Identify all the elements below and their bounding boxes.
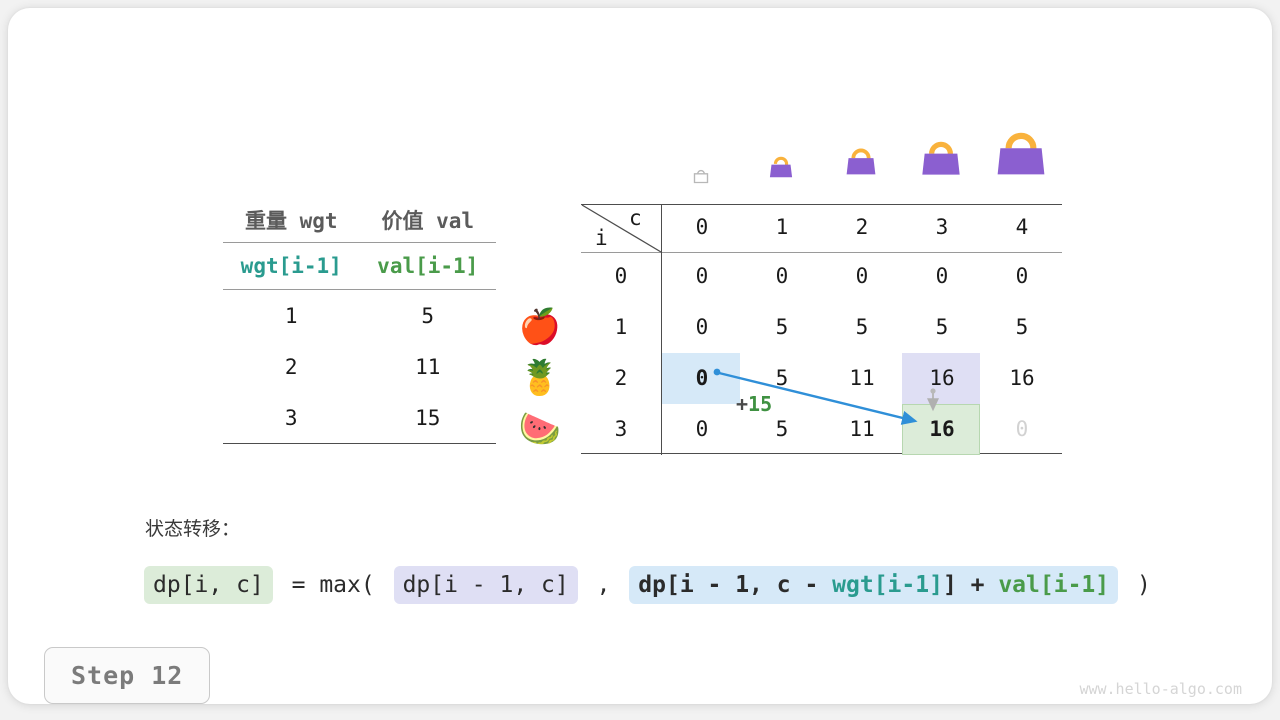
dp-row-header-1: 1	[581, 302, 661, 353]
formula-comma: ,	[578, 572, 630, 598]
dp-cell-1-4: 5	[982, 302, 1062, 353]
watermelon-icon: 🍉	[516, 405, 564, 453]
dp-cell-3-2: 11	[822, 404, 902, 455]
table-row: 3 15	[223, 392, 496, 444]
bag-capacity-4-icon	[988, 118, 1054, 188]
item-1-value: 11	[360, 341, 497, 392]
formula-lhs: dp[i, c]	[144, 566, 273, 604]
items-table-subheader-row: wgt[i-1] val[i-1]	[223, 243, 496, 290]
state-transition-formula: dp[i, c] = max( dp[i - 1, c] , dp[i - 1,…	[144, 566, 1156, 604]
bag-capacity-0-icon	[673, 163, 729, 193]
plus-value: 15	[748, 392, 772, 416]
dp-cell-3-0: 0	[662, 404, 742, 455]
dp-cell-0-0: 0	[662, 251, 742, 302]
plus-gain-annotation: +15	[736, 392, 772, 416]
dp-cell-2-2: 11	[822, 353, 902, 404]
dp-col-header-4: 4	[982, 202, 1062, 253]
item-2-weight: 3	[223, 392, 360, 444]
formula-eq: = max(	[273, 572, 394, 598]
dp-cell-2-3: 16	[902, 353, 982, 404]
dp-axis-label-c: c	[629, 206, 642, 230]
formula-arg2-val: val[i-1]	[998, 572, 1109, 598]
formula-arg2-prefix: dp[i - 1, c -	[638, 572, 832, 598]
dp-col-header-2: 2	[822, 202, 902, 253]
formula-arg2-wgt: wgt[i-1]	[832, 572, 943, 598]
dp-cell-0-3: 0	[902, 251, 982, 302]
dp-header-diagonal-icon	[581, 204, 662, 253]
pineapple-icon: 🍍	[516, 354, 564, 402]
dp-row-header-2: 2	[581, 353, 661, 404]
items-subheader-val: val[i-1]	[360, 243, 497, 290]
state-transition-label: 状态转移：	[145, 514, 240, 541]
formula-arg2-mid: ] +	[943, 572, 998, 598]
items-header-wgt: 重量 wgt	[223, 198, 360, 243]
watermark: www.hello-algo.com	[1079, 680, 1242, 698]
dp-cell-0-4: 0	[982, 251, 1062, 302]
formula-close: )	[1118, 572, 1156, 598]
items-subheader-wgt: wgt[i-1]	[223, 243, 360, 290]
bag-capacity-1-icon	[753, 148, 809, 190]
dp-cell-3-4: 0	[982, 404, 1062, 455]
plus-sign: +	[736, 392, 748, 416]
formula-arg1: dp[i - 1, c]	[394, 566, 578, 604]
dp-cell-1-1: 5	[742, 302, 822, 353]
items-header-val: 价值 val	[360, 198, 497, 243]
item-1-weight: 2	[223, 341, 360, 392]
dp-axis-label-i: i	[595, 226, 608, 250]
dp-table: c i 0 1 2 3 4 0 1 2 3 0 0 0 0 0 0 5	[581, 204, 1062, 455]
item-0-weight: 1	[223, 290, 360, 342]
table-row: 2 11	[223, 341, 496, 392]
screenshot-stage: 重量 wgt 价值 val wgt[i-1] val[i-1] 1 5 2 11…	[0, 0, 1280, 720]
dp-cell-0-1: 0	[742, 251, 822, 302]
dp-col-header-3: 3	[902, 202, 982, 253]
dp-col-header-1: 1	[742, 202, 822, 253]
dp-cell-2-4: 16	[982, 353, 1062, 404]
dp-cell-0-2: 0	[822, 251, 902, 302]
dp-cell-1-3: 5	[902, 302, 982, 353]
items-table-header-row: 重量 wgt 价值 val	[223, 198, 496, 243]
dp-cell-1-0: 0	[662, 302, 742, 353]
slide-card: 重量 wgt 价值 val wgt[i-1] val[i-1] 1 5 2 11…	[8, 8, 1272, 704]
table-row: 1 5	[223, 290, 496, 342]
bag-capacity-2-icon	[833, 138, 889, 188]
apple-icon: 🍎	[516, 303, 564, 351]
item-2-value: 15	[360, 392, 497, 444]
dp-col-header-0: 0	[662, 202, 742, 253]
dp-cell-1-2: 5	[822, 302, 902, 353]
dp-cell-2-0: 0	[662, 353, 742, 404]
dp-cell-3-3: 16	[902, 404, 982, 455]
formula-arg2: dp[i - 1, c - wgt[i-1]] + val[i-1]	[629, 566, 1118, 604]
item-0-value: 5	[360, 290, 497, 342]
step-badge: Step 12	[44, 647, 210, 704]
dp-row-header-3: 3	[581, 404, 661, 455]
bag-capacity-3-icon	[911, 128, 971, 188]
dp-row-header-0: 0	[581, 251, 661, 302]
items-table: 重量 wgt 价值 val wgt[i-1] val[i-1] 1 5 2 11…	[223, 198, 496, 444]
